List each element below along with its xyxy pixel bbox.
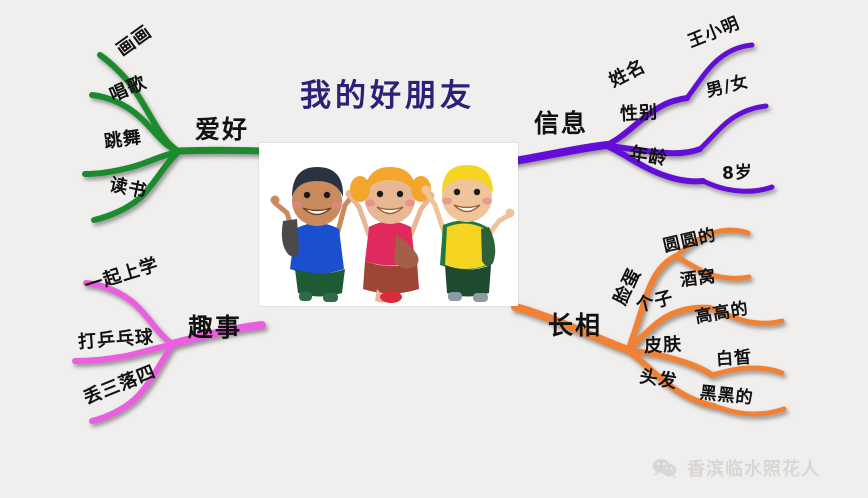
leaf-info-age-value[interactable]: 8岁 <box>721 157 753 184</box>
three-jumping-children-clipart <box>259 143 518 306</box>
watermark-text: 香滨临水照花人 <box>687 455 820 481</box>
node-hobbies-dancing[interactable]: 跳舞 <box>102 123 143 154</box>
node-info-gender[interactable]: 性别 <box>619 98 658 126</box>
wechat-icon <box>652 458 678 478</box>
node-hobbies[interactable]: 爱好 <box>195 110 249 146</box>
page-title: 我的好朋友 <box>300 70 475 115</box>
leaf-skin-fair[interactable]: 白皙 <box>715 343 753 370</box>
node-fun-play-pingpong[interactable]: 打乒乓球 <box>77 323 155 354</box>
watermark: 香滨临水照花人 <box>652 455 820 481</box>
node-fun-stories[interactable]: 趣事 <box>188 308 242 344</box>
node-appearance-skin[interactable]: 皮肤 <box>643 330 682 358</box>
leaf-face-dimples[interactable]: 酒窝 <box>678 262 717 291</box>
node-information[interactable]: 信息 <box>534 104 588 140</box>
mindmap-canvas: 我的好朋友 <box>0 0 868 498</box>
node-appearance[interactable]: 长相 <box>548 306 602 342</box>
center-image <box>259 143 518 306</box>
